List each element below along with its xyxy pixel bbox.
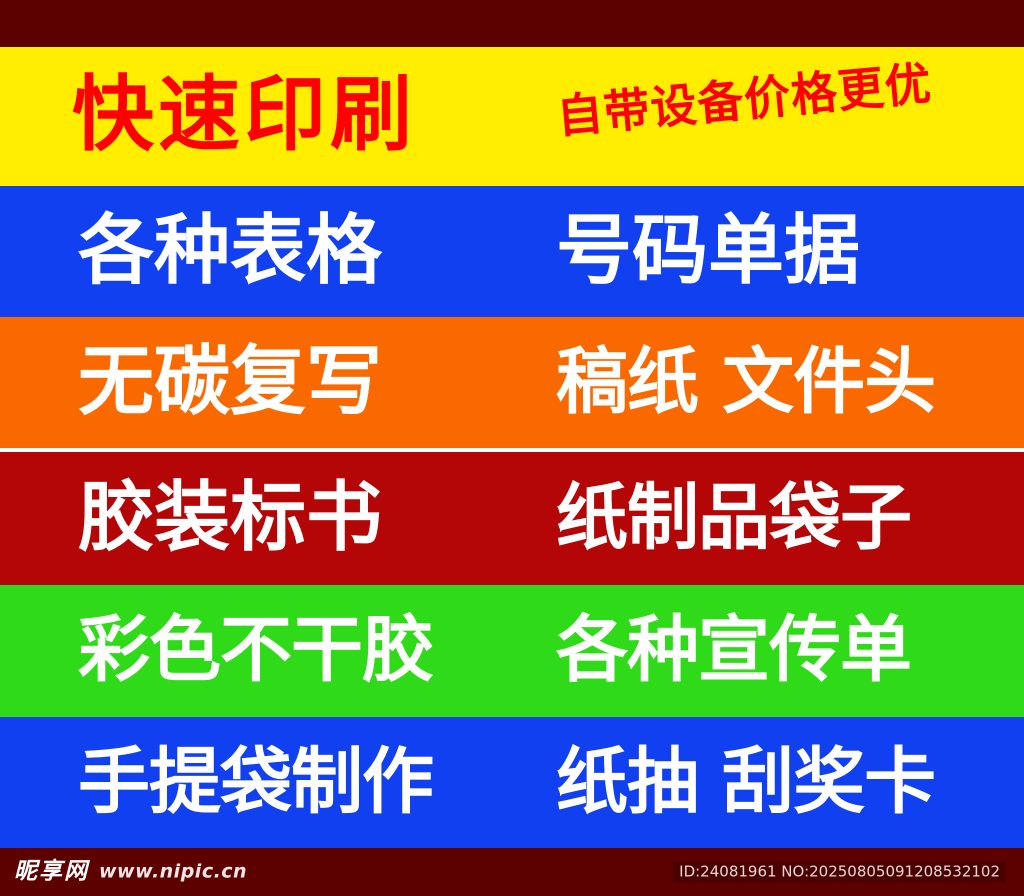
headline-band: 快速印刷 自带设备价格更优 xyxy=(0,47,1024,186)
service-2-left-label: 无碳复写 xyxy=(78,343,382,419)
footer-bar: 昵享网 www.nipic.cn ID:24081961 NO:20250805… xyxy=(0,848,1024,896)
service-3-right-label: 纸制品袋子 xyxy=(556,481,911,553)
service-5-right-label: 纸抽 刮奖卡 xyxy=(556,745,935,817)
asset-id-label: ID:24081961 NO:20250805091208532102 xyxy=(673,862,1006,883)
service-band-3: 胶装标书 纸制品袋子 xyxy=(0,452,1024,585)
service-3-left-label: 胶装标书 xyxy=(78,479,382,555)
service-1-right-label: 号码单据 xyxy=(556,212,860,288)
service-4-right-label: 各种宣传单 xyxy=(556,614,911,686)
service-band-5: 手提袋制作 纸抽 刮奖卡 xyxy=(0,717,1024,848)
headline-main-title: 快速印刷 xyxy=(72,74,416,156)
service-2-right-label: 稿纸 文件头 xyxy=(556,345,935,417)
top-accent-bar xyxy=(0,0,1024,47)
poster-canvas: 快速印刷 自带设备价格更优 各种表格 号码单据 无碳复写 稿纸 文件头 胶装标书… xyxy=(0,0,1024,896)
service-1-left-label: 各种表格 xyxy=(78,212,382,288)
site-watermark: 昵享网 www.nipic.cn xyxy=(14,861,247,884)
headline-subtitle: 自带设备价格更优 xyxy=(555,60,934,140)
brand-logo-text: 昵享网 xyxy=(14,861,89,884)
service-4-left-label: 彩色不干胶 xyxy=(78,614,433,686)
service-band-4: 彩色不干胶 各种宣传单 xyxy=(0,585,1024,717)
service-band-2: 无碳复写 稿纸 文件头 xyxy=(0,317,1024,448)
service-band-1: 各种表格 号码单据 xyxy=(0,186,1024,317)
service-5-left-label: 手提袋制作 xyxy=(78,745,433,817)
brand-url-text: www.nipic.cn xyxy=(99,863,247,882)
